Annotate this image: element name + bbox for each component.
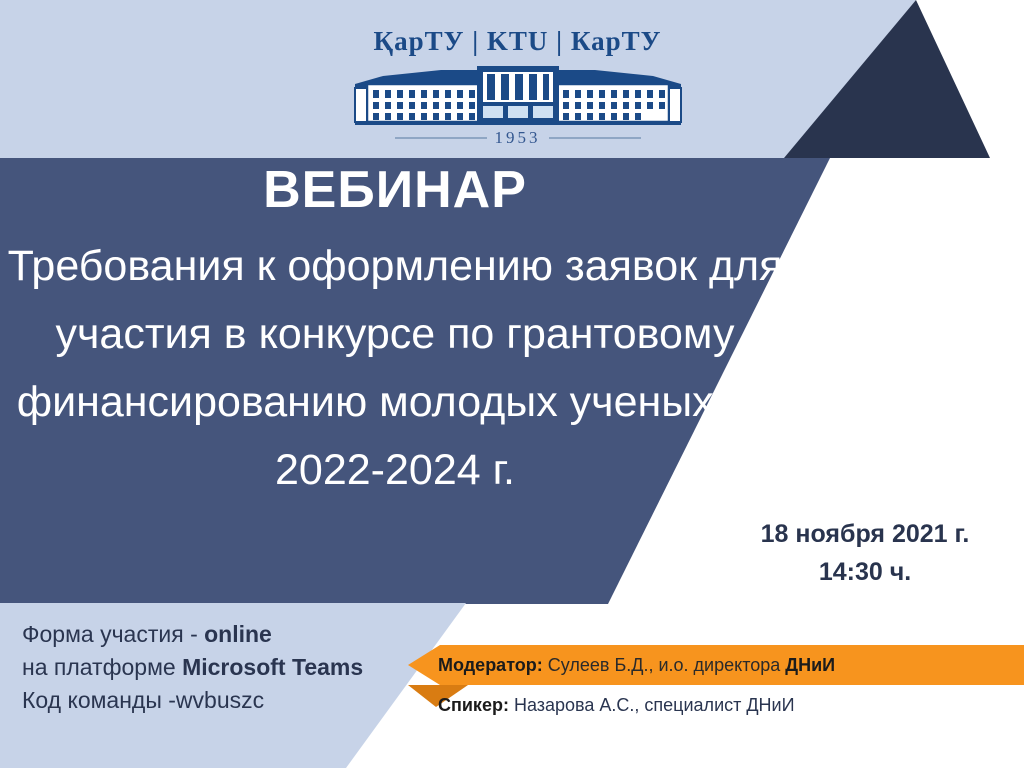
participation-platform-line: на платформе Microsoft Teams: [22, 651, 363, 684]
moderator-name: Сулеев Б.Д., и.о. директора: [543, 655, 786, 675]
participation-form-value: online: [204, 621, 272, 647]
logo-year: 1953: [495, 128, 541, 148]
participation-platform-prefix: на платформе: [22, 654, 182, 680]
date-time: 14:30 ч.: [720, 553, 1010, 591]
university-building-icon: [353, 58, 683, 128]
headline: ВЕБИНАР: [0, 160, 790, 220]
logo-wordmark: ҚарТУ | KTU | КарТУ: [345, 26, 690, 57]
participation-platform-value: Microsoft Teams: [182, 654, 363, 680]
moderator-dept: ДНиИ: [785, 655, 835, 675]
webinar-poster: ҚарТУ | KTU | КарТУ: [0, 0, 1024, 768]
moderator-label: Модератор:: [438, 655, 543, 675]
logo-year-row: 1953: [345, 128, 690, 148]
participation-info: Форма участия - online на платформе Micr…: [22, 618, 363, 717]
participation-team-code: Код команды -wvbuszc: [22, 684, 363, 717]
moderator-ribbon: Модератор: Сулеев Б.Д., и.о. директора Д…: [408, 645, 1024, 685]
subtitle: Требования к оформлению заявок для участ…: [0, 232, 790, 504]
date-day: 18 ноября 2021 г.: [720, 515, 1010, 553]
logo-rule-left: [395, 137, 487, 139]
moderator-line: Модератор: Сулеев Б.Д., и.о. директора Д…: [438, 655, 835, 676]
participation-form-prefix: Форма участия -: [22, 621, 204, 647]
speaker-label: Спикер:: [438, 695, 509, 715]
ktu-logo: ҚарТУ | KTU | КарТУ: [345, 12, 690, 150]
participation-form-line: Форма участия - online: [22, 618, 363, 651]
speaker-line: Спикер: Назарова А.С., специалист ДНиИ: [438, 695, 795, 716]
speaker-name: Назарова А.С., специалист ДНиИ: [509, 695, 795, 715]
date-block: 18 ноября 2021 г. 14:30 ч.: [720, 515, 1010, 591]
logo-rule-right: [549, 137, 641, 139]
